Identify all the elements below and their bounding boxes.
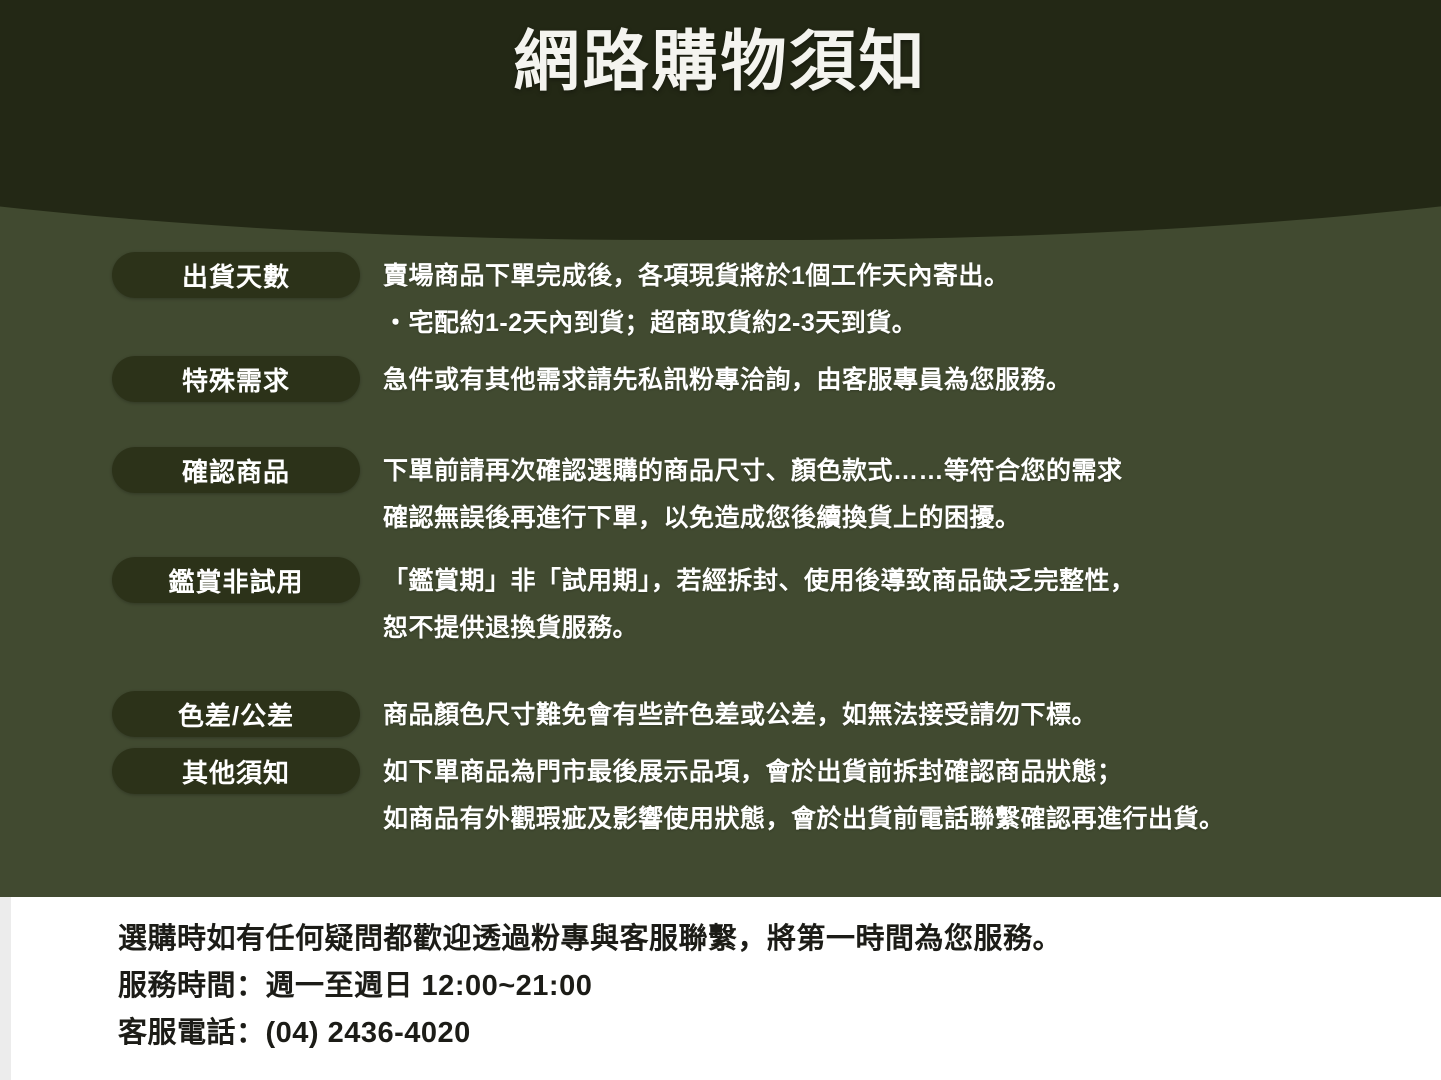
section-label-inspection-not-trial: 鑑賞非試用 xyxy=(112,557,360,603)
notice-row: 鑑賞非試用 「鑑賞期」非「試用期」，若經拆封、使用後導致商品缺乏完整性， 恕不提… xyxy=(0,557,1441,652)
section-body-shipping-days: 賣場商品下單完成後，各項現貨將於1個工作天內寄出。 ・宅配約1-2天內到貨；超商… xyxy=(383,252,1441,347)
notice-row: 其他須知 如下單商品為門市最後展示品項，會於出貨前拆封確認商品狀態； 如商品有外… xyxy=(0,748,1441,843)
section-body-special-request: 急件或有其他需求請先私訊粉專洽詢，由客服專員為您服務。 xyxy=(383,356,1441,404)
section-body-line: 急件或有其他需求請先私訊粉專洽詢，由客服專員為您服務。 xyxy=(383,357,1441,404)
section-body-line: 如商品有外觀瑕疵及影響使用狀態，會於出貨前電話聯繫確認再進行出貨。 xyxy=(383,796,1441,843)
section-body-line: 商品顏色尺寸難免會有些許色差或公差，如無法接受請勿下標。 xyxy=(383,692,1441,739)
section-body-line: 如下單商品為門市最後展示品項，會於出貨前拆封確認商品狀態； xyxy=(383,749,1441,796)
notice-row: 出貨天數 賣場商品下單完成後，各項現貨將於1個工作天內寄出。 ・宅配約1-2天內… xyxy=(0,252,1441,347)
footer-text-block: 選購時如有任何疑問都歡迎透過粉專與客服聯繫，將第一時間為您服務。 服務時間：週一… xyxy=(118,916,1062,1057)
footer-service-hours: 服務時間：週一至週日 12:00~21:00 xyxy=(118,963,1062,1010)
section-body-line: ・宅配約1-2天內到貨；超商取貨約2-3天到貨。 xyxy=(383,300,1441,347)
notice-panel: 網路購物須知 出貨天數 賣場商品下單完成後，各項現貨將於1個工作天內寄出。 ・宅… xyxy=(0,0,1441,897)
notice-row: 色差/公差 商品顏色尺寸難免會有些許色差或公差，如無法接受請勿下標。 xyxy=(0,691,1441,739)
section-label-special-request: 特殊需求 xyxy=(112,356,360,402)
notice-row: 確認商品 下單前請再次確認選購的商品尺寸、顏色款式……等符合您的需求 確認無誤後… xyxy=(0,447,1441,542)
notice-row: 特殊需求 急件或有其他需求請先私訊粉專洽詢，由客服專員為您服務。 xyxy=(0,356,1441,404)
footer-contact-intro: 選購時如有任何疑問都歡迎透過粉專與客服聯繫，將第一時間為您服務。 xyxy=(118,916,1062,963)
footer-service-phone: 客服電話：(04) 2436-4020 xyxy=(118,1010,1062,1057)
section-body-line: 恕不提供退換貨服務。 xyxy=(383,605,1441,652)
section-label-other-notes: 其他須知 xyxy=(112,748,360,794)
section-body-line: 「鑑賞期」非「試用期」，若經拆封、使用後導致商品缺乏完整性， xyxy=(383,558,1441,605)
section-body-confirm-product: 下單前請再次確認選購的商品尺寸、顏色款式……等符合您的需求 確認無誤後再進行下單… xyxy=(383,447,1441,542)
section-body-color-size-tolerance: 商品顏色尺寸難免會有些許色差或公差，如無法接受請勿下標。 xyxy=(383,691,1441,739)
section-body-line: 下單前請再次確認選購的商品尺寸、顏色款式……等符合您的需求 xyxy=(383,448,1441,495)
section-body-other-notes: 如下單商品為門市最後展示品項，會於出貨前拆封確認商品狀態； 如商品有外觀瑕疵及影… xyxy=(383,748,1441,843)
contact-footer: 選購時如有任何疑問都歡迎透過粉專與客服聯繫，將第一時間為您服務。 服務時間：週一… xyxy=(0,897,1441,1080)
section-body-inspection-not-trial: 「鑑賞期」非「試用期」，若經拆封、使用後導致商品缺乏完整性， 恕不提供退換貨服務… xyxy=(383,557,1441,652)
section-label-confirm-product: 確認商品 xyxy=(112,447,360,493)
section-label-color-size-tolerance: 色差/公差 xyxy=(112,691,360,737)
section-body-line: 確認無誤後再進行下單，以免造成您後續換貨上的困擾。 xyxy=(383,495,1441,542)
section-label-shipping-days: 出貨天數 xyxy=(112,252,360,298)
page-title: 網路購物須知 xyxy=(0,24,1441,100)
section-body-line: 賣場商品下單完成後，各項現貨將於1個工作天內寄出。 xyxy=(383,253,1441,300)
footer-left-edge-strip xyxy=(0,897,11,1080)
